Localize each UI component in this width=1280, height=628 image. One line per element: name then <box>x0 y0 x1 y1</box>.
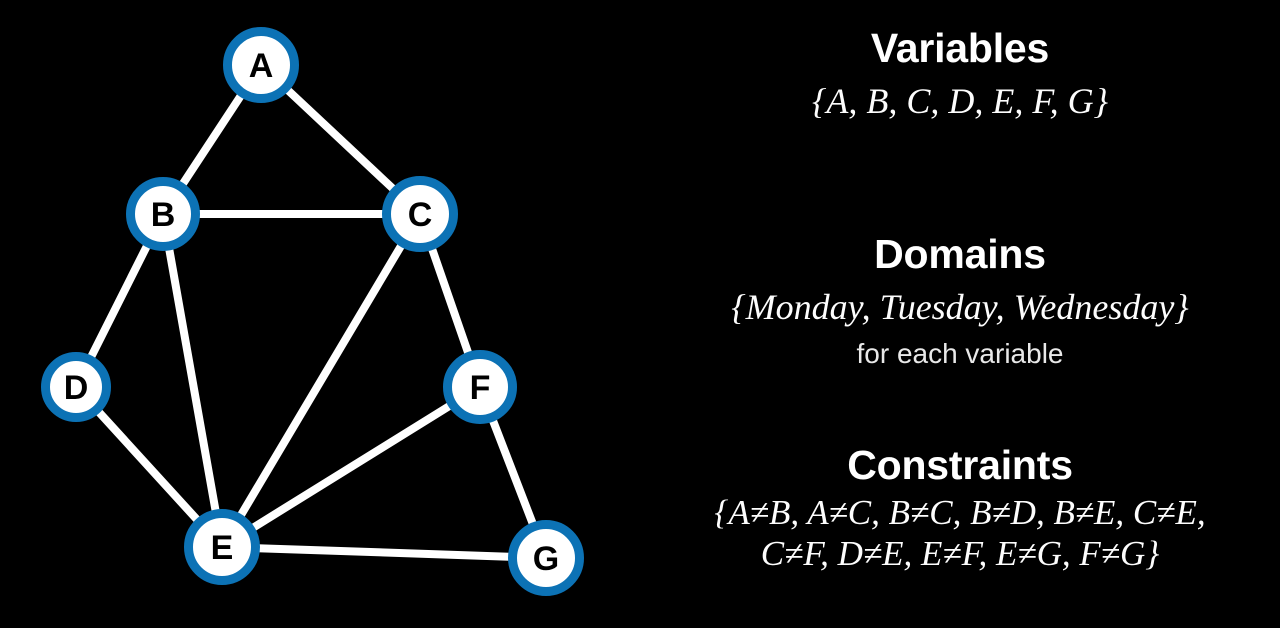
node-label-f: F <box>470 369 491 407</box>
node-label-g: G <box>533 540 559 578</box>
slide-root: ABCDEFG Variables {A, B, C, D, E, F, G} … <box>0 0 1280 628</box>
constraints-line-2: C≠F, D≠E, E≠F, E≠G, F≠G} <box>640 534 1280 575</box>
domains-heading: Domains <box>640 232 1280 276</box>
graph-edge-layer <box>76 65 546 558</box>
constraints-line-1: {A≠B, A≠C, B≠C, B≠D, B≠E, C≠E, <box>640 493 1280 534</box>
domains-note: for each variable <box>640 337 1280 371</box>
graph-node-f[interactable]: F <box>448 355 513 420</box>
graph-node-b[interactable]: B <box>131 182 196 247</box>
graph-edge-e-f <box>222 387 480 547</box>
constraints-section: Constraints {A≠B, A≠C, B≠C, B≠D, B≠E, C≠… <box>640 443 1280 574</box>
graph-node-d[interactable]: D <box>46 357 107 418</box>
node-label-b: B <box>151 196 176 234</box>
graph-edge-c-e <box>222 214 420 547</box>
node-label-c: C <box>408 196 433 234</box>
graph-node-e[interactable]: E <box>189 514 256 581</box>
variables-heading: Variables <box>640 26 1280 70</box>
constraint-graph: ABCDEFG <box>0 0 640 628</box>
node-label-a: A <box>249 47 274 85</box>
constraints-heading: Constraints <box>640 443 1280 487</box>
domains-set: {Monday, Tuesday, Wednesday} <box>640 286 1280 328</box>
constraint-graph-panel: ABCDEFG <box>0 0 640 628</box>
definition-panel: Variables {A, B, C, D, E, F, G} Domains … <box>640 0 1280 628</box>
variables-section: Variables {A, B, C, D, E, F, G} <box>640 26 1280 123</box>
node-label-d: D <box>64 369 89 407</box>
graph-node-c[interactable]: C <box>387 181 454 248</box>
domains-section: Domains {Monday, Tuesday, Wednesday} for… <box>640 232 1280 370</box>
node-label-e: E <box>211 529 234 567</box>
graph-node-a[interactable]: A <box>228 32 295 99</box>
graph-node-g[interactable]: G <box>513 525 580 592</box>
graph-edge-e-g <box>222 547 546 558</box>
variables-set: {A, B, C, D, E, F, G} <box>640 80 1280 122</box>
constraints-set: {A≠B, A≠C, B≠C, B≠D, B≠E, C≠E, C≠F, D≠E,… <box>640 493 1280 574</box>
